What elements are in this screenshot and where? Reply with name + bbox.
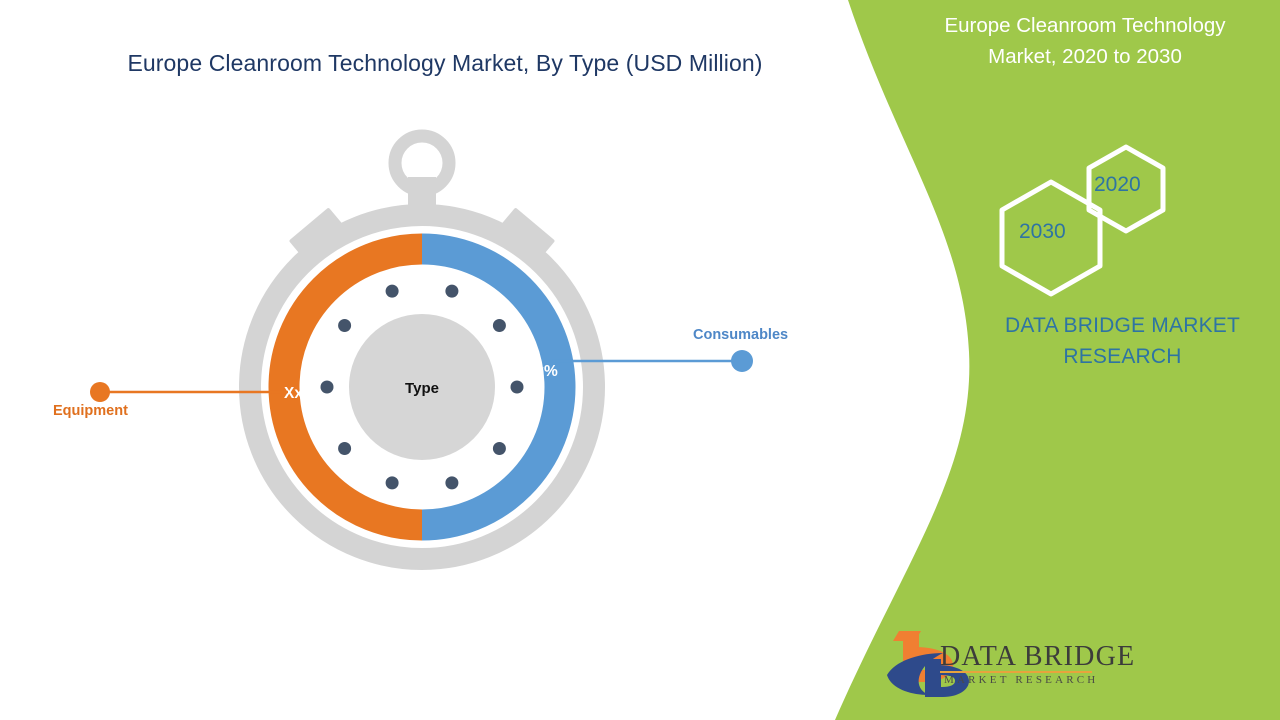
logo-sub-text: MARKET RESEARCH bbox=[944, 674, 1098, 686]
tick-dot bbox=[493, 319, 506, 332]
consumables-percent-label: Xx% bbox=[525, 363, 558, 380]
tick-dot bbox=[445, 476, 458, 489]
tick-dot bbox=[445, 285, 458, 298]
panel-brand-name: DATA BRIDGE MARKET RESEARCH bbox=[975, 310, 1270, 372]
tick-dot bbox=[321, 381, 334, 394]
equipment-leader-dot[interactable] bbox=[90, 382, 110, 402]
hexagon-2030-year: 2030 bbox=[1019, 220, 1066, 244]
panel-title-line1: Europe Cleanroom Technology bbox=[944, 14, 1225, 37]
tick-dot bbox=[511, 381, 524, 394]
donut-center-label: Type bbox=[405, 380, 439, 397]
panel-brand-line2: RESEARCH bbox=[1063, 345, 1181, 368]
panel-title-line2: Market, 2020 to 2030 bbox=[988, 45, 1182, 68]
donut-chart: Type Xx% Xx% bbox=[222, 125, 622, 595]
tick-dot bbox=[493, 442, 506, 455]
logo-main-text: DATA BRIDGE bbox=[940, 641, 1135, 673]
tick-dot bbox=[386, 285, 399, 298]
tick-dot bbox=[386, 476, 399, 489]
panel-title: Europe Cleanroom Technology Market, 2020… bbox=[900, 10, 1270, 72]
consumables-callout-label: Consumables bbox=[693, 327, 788, 343]
infographic-canvas: Europe Cleanroom Technology Market, By T… bbox=[0, 0, 1280, 720]
equipment-percent-label: Xx% bbox=[284, 385, 317, 402]
hexagon-2020-year: 2020 bbox=[1094, 173, 1141, 197]
chart-title: Europe Cleanroom Technology Market, By T… bbox=[60, 50, 830, 77]
consumables-leader-dot[interactable] bbox=[731, 350, 753, 372]
panel-brand-line1: DATA BRIDGE MARKET bbox=[1005, 314, 1240, 337]
tick-dot bbox=[338, 319, 351, 332]
equipment-callout-label: Equipment bbox=[53, 403, 128, 419]
tick-dot bbox=[338, 442, 351, 455]
